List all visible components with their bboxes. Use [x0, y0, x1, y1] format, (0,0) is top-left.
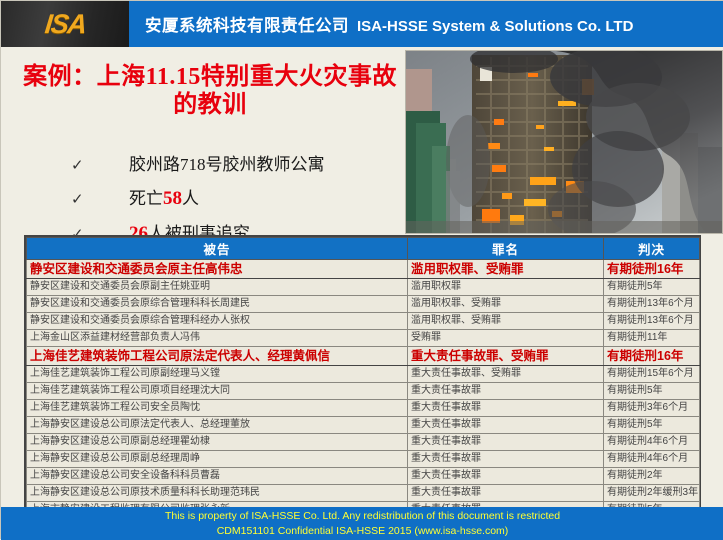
cell-verdict: 有期徒刑15年6个月 — [604, 366, 700, 383]
cell-defendant: 上海佳艺建筑装饰工程公司原法定代表人、经理黄佩信 — [27, 347, 408, 366]
legal-table-wrapper: 被告 罪名 判决 静安区建设和交通委员会原主任高伟忠 滥用职权罪、受贿罪 有期徒… — [24, 235, 701, 538]
cell-charge: 重大责任事故罪、受贿罪 — [408, 366, 604, 383]
bullet-text: 胶州路718号胶州教师公寓 — [129, 150, 325, 175]
cell-charge: 滥用职权罪、受贿罪 — [408, 296, 604, 313]
footer-line-1: This is property of ISA-HSSE Co. Ltd. An… — [1, 509, 723, 524]
col-header-charge: 罪名 — [408, 238, 604, 260]
table-row: 上海佳艺建筑装饰工程公司安全员陶忱 重大责任事故罪 有期徒刑3年6个月 — [27, 400, 700, 417]
bullet-text-post: 人 — [182, 189, 199, 208]
table-row: 静安区建设和交通委员会原副主任姚亚明 滥用职权罪 有期徒刑5年 — [27, 279, 700, 296]
cell-verdict: 有期徒刑5年 — [604, 417, 700, 434]
page-title-line1: 案例：上海11.15特别重大火灾事故 — [15, 63, 405, 91]
cell-defendant: 上海静安区建设总公司原副总经理周峥 — [27, 451, 408, 468]
cell-verdict: 有期徒刑16年 — [604, 347, 700, 366]
footer-line-2: CDM151101 Confidential ISA-HSSE 2015 (ww… — [1, 524, 723, 539]
cell-defendant: 上海静安区建设总公司原副总经理瞿幼棣 — [27, 434, 408, 451]
list-item: ✓ 胶州路718号胶州教师公寓 — [71, 150, 411, 175]
bullet-text-pre: 胶州路718号胶州教师公寓 — [129, 155, 325, 174]
bullet-text: 死亡58人 — [129, 184, 199, 210]
check-icon: ✓ — [71, 190, 129, 209]
cell-defendant: 上海静安区建设总公司原技术质量科科长助理范玮民 — [27, 485, 408, 502]
cell-defendant: 静安区建设和交通委员会原综合管理科经办人张权 — [27, 313, 408, 330]
header-title: 安厦系统科技有限责任公司ISA-HSSE System & Solutions … — [129, 12, 723, 36]
cell-verdict: 有期徒刑2年 — [604, 468, 700, 485]
legal-table-body: 静安区建设和交通委员会原主任高伟忠 滥用职权罪、受贿罪 有期徒刑16年 静安区建… — [27, 260, 700, 536]
cell-charge: 重大责任事故罪 — [408, 468, 604, 485]
page-title-line2: 的教训 — [15, 91, 405, 119]
col-header-verdict: 判决 — [604, 238, 700, 260]
cell-charge: 重大责任事故罪 — [408, 485, 604, 502]
isa-logo: ISA — [1, 1, 129, 47]
cell-verdict: 有期徒刑4年6个月 — [604, 451, 700, 468]
cell-defendant: 上海佳艺建筑装饰工程公司安全员陶忱 — [27, 400, 408, 417]
cell-verdict: 有期徒刑4年6个月 — [604, 434, 700, 451]
table-row: 上海静安区建设总公司原法定代表人、总经理董放 重大责任事故罪 有期徒刑5年 — [27, 417, 700, 434]
cell-verdict: 有期徒刑13年6个月 — [604, 313, 700, 330]
bullet-highlight: 58 — [163, 188, 182, 209]
cell-defendant: 上海佳艺建筑装饰工程公司原项目经理沈大同 — [27, 383, 408, 400]
cell-defendant: 上海佳艺建筑装饰工程公司原副经理马义镗 — [27, 366, 408, 383]
cell-charge: 受贿罪 — [408, 330, 604, 347]
table-row: 静安区建设和交通委员会原综合管理科经办人张权 滥用职权罪、受贿罪 有期徒刑13年… — [27, 313, 700, 330]
header-title-en: ISA-HSSE System & Solutions Co. LTD — [357, 18, 633, 35]
table-header-row: 被告 罪名 判决 — [27, 238, 700, 260]
cell-verdict: 有期徒刑5年 — [604, 383, 700, 400]
table-row: 静安区建设和交通委员会原主任高伟忠 滥用职权罪、受贿罪 有期徒刑16年 — [27, 260, 700, 279]
table-row: 上海金山区添益建材经营部负责人冯伟 受贿罪 有期徒刑11年 — [27, 330, 700, 347]
cell-charge: 重大责任事故罪 — [408, 417, 604, 434]
page-footer: This is property of ISA-HSSE Co. Ltd. An… — [1, 507, 723, 540]
cell-charge: 滥用职权罪、受贿罪 — [408, 313, 604, 330]
cell-defendant: 上海金山区添益建材经营部负责人冯伟 — [27, 330, 408, 347]
slide-body: 案例：上海11.15特别重大火灾事故 的教训 ✓ 胶州路718号胶州教师公寓 ✓… — [1, 47, 723, 507]
table-row: 上海佳艺建筑装饰工程公司原项目经理沈大同 重大责任事故罪 有期徒刑5年 — [27, 383, 700, 400]
slide-root: ISA 安厦系统科技有限责任公司ISA-HSSE System & Soluti… — [0, 0, 723, 539]
col-header-defendant: 被告 — [27, 238, 408, 260]
table-row: 上海佳艺建筑装饰工程公司原副经理马义镗 重大责任事故罪、受贿罪 有期徒刑15年6… — [27, 366, 700, 383]
table-row: 上海静安区建设总公司原副总经理瞿幼棣 重大责任事故罪 有期徒刑4年6个月 — [27, 434, 700, 451]
list-item: ✓ 死亡58人 — [71, 184, 411, 210]
cell-verdict: 有期徒刑13年6个月 — [604, 296, 700, 313]
fire-photo-graphic — [406, 51, 722, 233]
cell-verdict: 有期徒刑3年6个月 — [604, 400, 700, 417]
isa-logo-text: ISA — [43, 9, 87, 40]
cell-charge: 重大责任事故罪 — [408, 451, 604, 468]
legal-table: 被告 罪名 判决 静安区建设和交通委员会原主任高伟忠 滥用职权罪、受贿罪 有期徒… — [26, 237, 700, 536]
bullet-text-pre: 死亡 — [129, 189, 163, 208]
cell-charge: 滥用职权罪 — [408, 279, 604, 296]
header-title-cn: 安厦系统科技有限责任公司 — [145, 17, 349, 35]
table-row: 静安区建设和交通委员会原综合管理科科长周建民 滥用职权罪、受贿罪 有期徒刑13年… — [27, 296, 700, 313]
page-header: ISA 安厦系统科技有限责任公司ISA-HSSE System & Soluti… — [1, 1, 723, 47]
cell-charge: 重大责任事故罪 — [408, 400, 604, 417]
table-row: 上海佳艺建筑装饰工程公司原法定代表人、经理黄佩信 重大责任事故罪、受贿罪 有期徒… — [27, 347, 700, 366]
cell-verdict: 有期徒刑16年 — [604, 260, 700, 279]
table-row: 上海静安区建设总公司安全设备科科员曹磊 重大责任事故罪 有期徒刑2年 — [27, 468, 700, 485]
cell-defendant: 上海静安区建设总公司原法定代表人、总经理董放 — [27, 417, 408, 434]
cell-defendant: 静安区建设和交通委员会原主任高伟忠 — [27, 260, 408, 279]
page-title: 案例：上海11.15特别重大火灾事故 的教训 — [15, 63, 405, 120]
cell-charge: 重大责任事故罪 — [408, 434, 604, 451]
cell-charge: 重大责任事故罪 — [408, 383, 604, 400]
cell-charge: 滥用职权罪、受贿罪 — [408, 260, 604, 279]
cell-verdict: 有期徒刑5年 — [604, 279, 700, 296]
cell-defendant: 静安区建设和交通委员会原副主任姚亚明 — [27, 279, 408, 296]
table-row: 上海静安区建设总公司原副总经理周峥 重大责任事故罪 有期徒刑4年6个月 — [27, 451, 700, 468]
cell-verdict: 有期徒刑11年 — [604, 330, 700, 347]
table-row: 上海静安区建设总公司原技术质量科科长助理范玮民 重大责任事故罪 有期徒刑2年缓刑… — [27, 485, 700, 502]
cell-verdict: 有期徒刑2年缓刑3年 — [604, 485, 700, 502]
check-icon: ✓ — [71, 156, 129, 175]
fire-photo — [405, 50, 723, 234]
cell-defendant: 上海静安区建设总公司安全设备科科员曹磊 — [27, 468, 408, 485]
cell-charge: 重大责任事故罪、受贿罪 — [408, 347, 604, 366]
cell-defendant: 静安区建设和交通委员会原综合管理科科长周建民 — [27, 296, 408, 313]
